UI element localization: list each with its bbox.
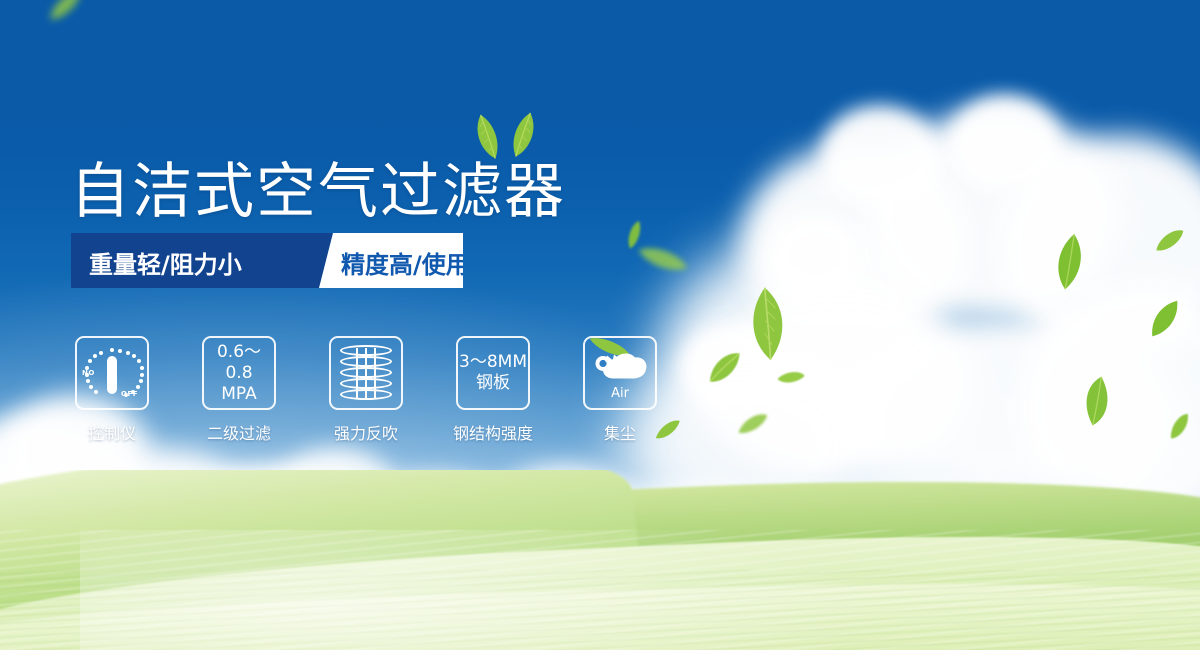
gauge-icon: NO OFF (77, 338, 147, 408)
feature-item-two-stage-filter[interactable]: 0.6～0.8 MPA 二级过滤 (198, 336, 280, 410)
pressure-line-2: MPA (221, 384, 256, 405)
feature-icon-box: 0.6～0.8 MPA (202, 336, 276, 410)
banner-root: 自洁式空气过滤器 重量轻/阻力小 精度高/使用方便 (0, 0, 1200, 650)
gauge-on-label: NO (82, 369, 95, 377)
thickness-line-1: 3～8MM (459, 352, 527, 373)
feature-icon-box: 3～8MM 钢板 (456, 336, 530, 410)
subtitle-bar: 重量轻/阻力小 精度高/使用方便 (71, 233, 463, 288)
feature-icon-box: Air (583, 336, 657, 410)
grass-field (0, 470, 1200, 650)
subtitle-right-panel: 精度高/使用方便 (319, 233, 463, 288)
coil-icon (340, 345, 392, 401)
thickness-text-icon: 3～8MM 钢板 (458, 338, 528, 408)
thickness-line-2: 钢板 (476, 373, 510, 394)
feature-item-steel-strength[interactable]: 3～8MM 钢板 钢结构强度 (452, 336, 534, 410)
feature-label: 控制仪 (57, 420, 167, 444)
pressure-text-icon: 0.6～0.8 MPA (204, 338, 274, 408)
gauge-needle (107, 356, 117, 394)
feature-item-dust-collection[interactable]: Air 集尘 (579, 336, 661, 410)
gauge-off-label: OFF (121, 390, 138, 398)
feature-icon-box (329, 336, 403, 410)
air-badge: Air (585, 386, 655, 401)
feature-label: 强力反吹 (311, 420, 421, 444)
feature-label: 钢结构强度 (438, 420, 548, 444)
page-title: 自洁式空气过滤器 (70, 143, 566, 230)
air-cloud-icon (592, 351, 648, 390)
feature-item-controller[interactable]: NO OFF 控制仪 (71, 336, 153, 410)
feature-icon-box: NO OFF (75, 336, 149, 410)
feature-item-strong-backflush[interactable]: 强力反吹 (325, 336, 407, 410)
subtitle-left-panel: 重量轻/阻力小 (71, 233, 333, 288)
feature-list: NO OFF 控制仪 0.6～0.8 MPA 二级过滤 (71, 336, 691, 446)
feature-label: 二级过滤 (184, 420, 294, 444)
grass-sun-wash (80, 530, 880, 650)
subtitle-left-text: 重量轻/阻力小 (89, 245, 242, 280)
pressure-line-1: 0.6～0.8 (204, 342, 274, 384)
